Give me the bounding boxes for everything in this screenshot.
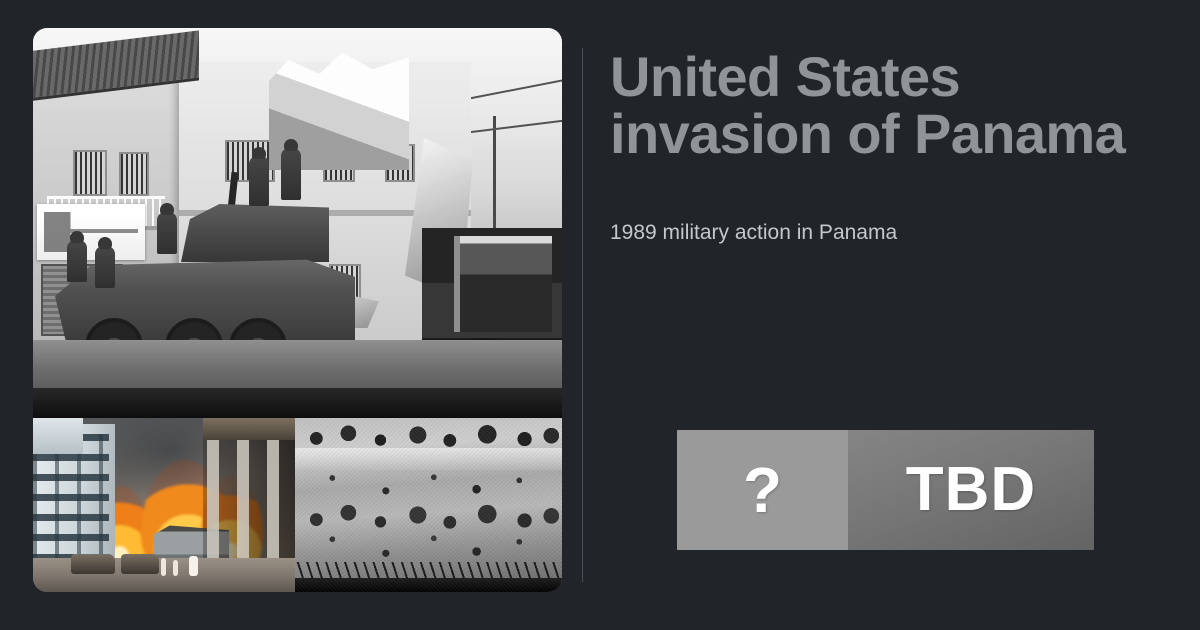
page-title-line-1: United States — [610, 48, 1200, 105]
open-graph-preview-card: United States invasion of Panama 1989 mi… — [0, 0, 1200, 630]
question-mark-icon: ? — [677, 430, 848, 550]
tbd-badge-label: TBD — [848, 430, 1094, 550]
lav-25-armored-vehicle-in-damaged-street-photo — [33, 28, 562, 418]
tbd-badge: ? TBD — [677, 430, 1094, 550]
el-chorrillo-neighborhood-on-fire-photo — [33, 418, 295, 592]
text-pane: United States invasion of Panama 1989 mi… — [595, 0, 1200, 630]
page-title: United States invasion of Panama — [610, 48, 1200, 162]
page-description: 1989 military action in Panama — [610, 219, 897, 247]
page-title-line-2: invasion of Panama — [610, 105, 1200, 162]
vertical-divider — [582, 48, 583, 582]
collage-image-bottom-right — [295, 418, 562, 592]
tbd-badge-text: TBD — [906, 459, 1036, 521]
collage-image-top — [33, 28, 562, 418]
question-mark-glyph: ? — [743, 458, 782, 522]
aerial-view-of-terrain-photo — [295, 418, 562, 592]
media-pane — [0, 0, 595, 630]
collage-bottom-row — [33, 418, 562, 592]
image-collage — [33, 28, 562, 592]
collage-image-bottom-left — [33, 418, 295, 592]
